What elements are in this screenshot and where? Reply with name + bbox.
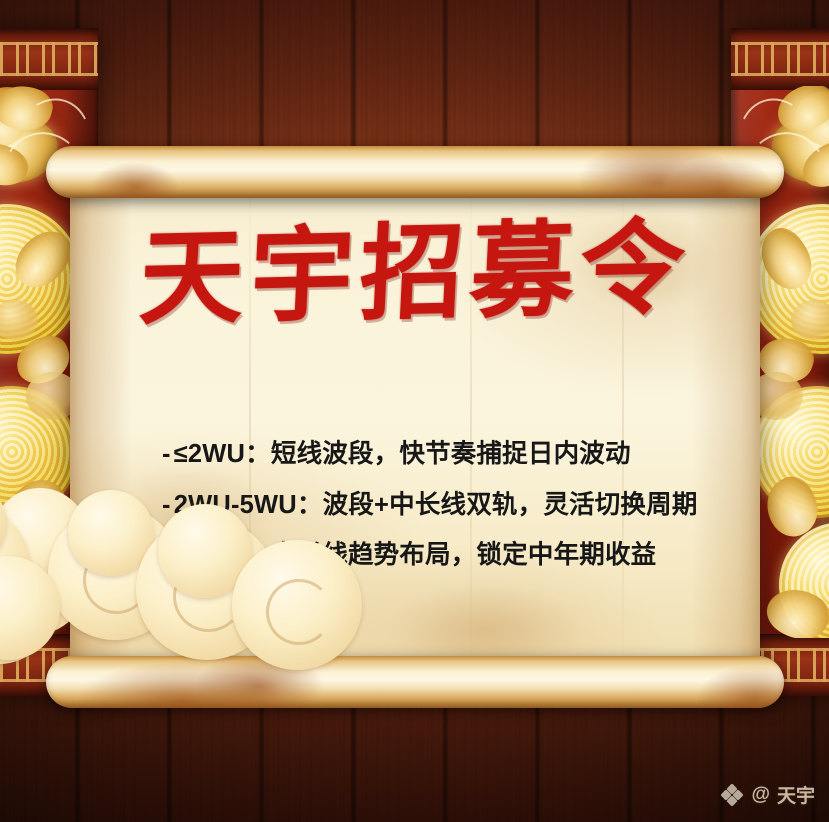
diamond-logo-icon — [720, 783, 744, 807]
watermark-at-symbol: @ — [751, 784, 770, 806]
list-bullet: - — [162, 491, 171, 519]
scroll-roller-bottom — [46, 656, 784, 708]
list-item-text: ≤2WU：短线波段，快节奏捕捉日内波动 — [174, 440, 631, 468]
tier-list: -≤2WU：短线波段，快节奏捕捉日内波动 -2WU-5WU：波段+中长线双轨，灵… — [162, 442, 720, 594]
list-bullet: - — [162, 541, 171, 569]
scroll-banner: 天宇招募令 -≤2WU：短线波段，快节奏捕捉日内波动 -2WU-5WU：波段+中… — [62, 52, 768, 700]
list-item: -≥5WU：中长线趋势布局，锁定中年期收益 — [162, 543, 720, 569]
list-item: -≤2WU：短线波段，快节奏捕捉日内波动 — [162, 442, 720, 468]
list-item: -2WU-5WU：波段+中长线双轨，灵活切换周期 — [162, 493, 720, 519]
scroll-paper: 天宇招募令 -≤2WU：短线波段，快节奏捕捉日内波动 -2WU-5WU：波段+中… — [70, 160, 760, 682]
list-item-text: 2WU-5WU：波段+中长线双轨，灵活切换周期 — [174, 491, 698, 519]
watermark-handle: 天宇 — [777, 781, 815, 808]
poster-stage: 天宇招募令 -≤2WU：短线波段，快节奏捕捉日内波动 -2WU-5WU：波段+中… — [0, 0, 829, 822]
list-bullet: - — [162, 440, 171, 468]
scroll-content: 天宇招募令 -≤2WU：短线波段，快节奏捕捉日内波动 -2WU-5WU：波段+中… — [70, 160, 760, 682]
page-title: 天宇招募令 — [67, 211, 763, 336]
scroll-roller-top — [46, 146, 784, 198]
list-item-text: ≥5WU：中长线趋势布局，锁定中年期收益 — [174, 541, 657, 569]
watermark: @ 天宇 — [720, 781, 815, 808]
